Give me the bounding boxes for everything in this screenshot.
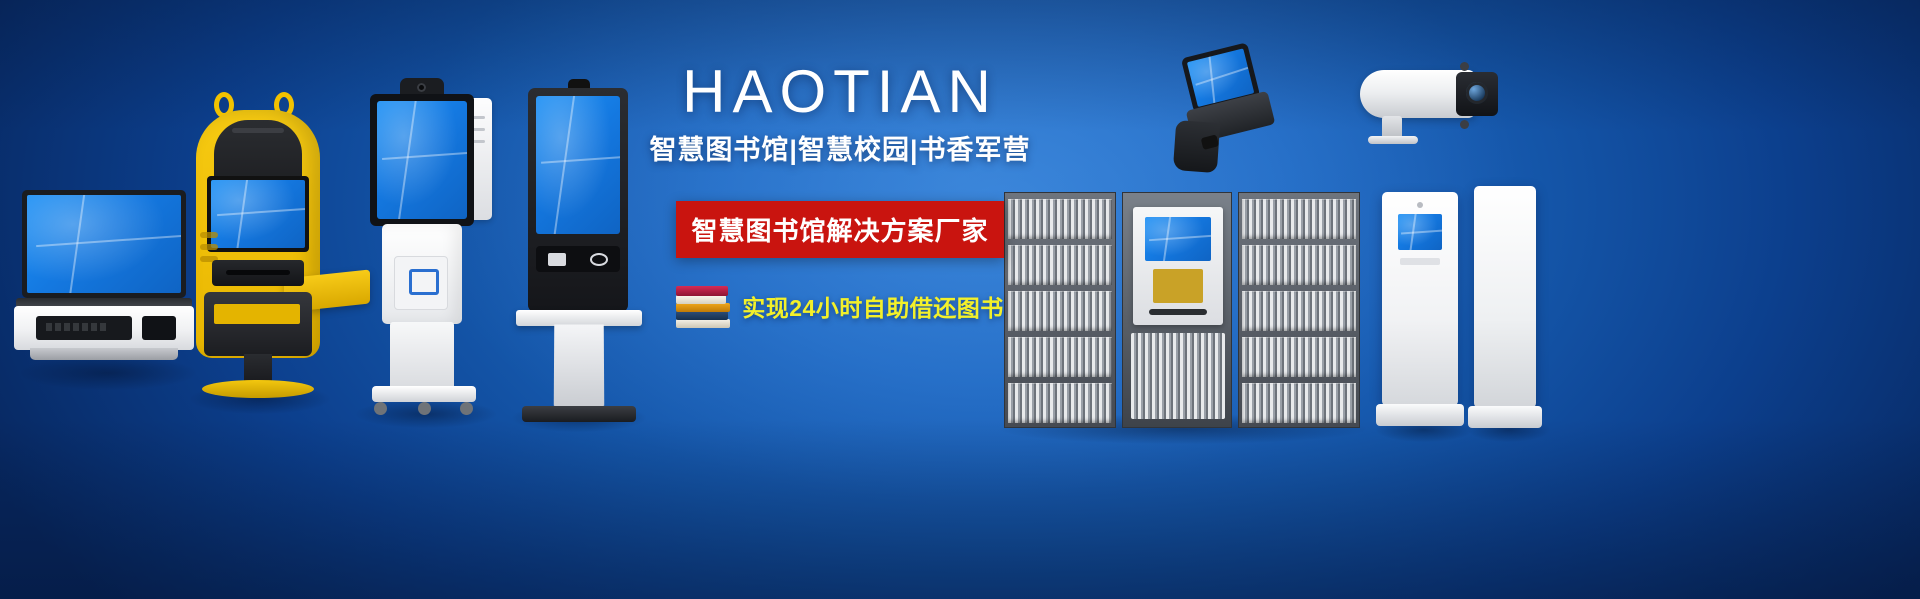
rfid-reader-pad-icon (394, 256, 448, 310)
book-layer-2 (676, 311, 728, 320)
red-highlight-banner: 智慧图书馆解决方案厂家 (676, 201, 1004, 258)
banner-text-block: HAOTIAN 智慧图书馆|智慧校园|书香军营 智慧图书馆解决方案厂家 实现24… (630, 62, 1050, 328)
barcode-scanner-icon (548, 253, 566, 266)
bee-vent-2 (200, 244, 218, 250)
bee-kiosk-book-slot (212, 260, 304, 286)
camera-lens (1456, 72, 1498, 116)
totem-label-strip (1400, 258, 1440, 265)
bee-kiosk-label-plate (214, 304, 300, 324)
screen-glow (1145, 217, 1211, 261)
locker-keypad (1153, 269, 1203, 303)
shelf-row (1008, 383, 1112, 423)
camera-ir-led-top (1460, 62, 1469, 71)
bee-kiosk-lower-cabinet (204, 292, 312, 356)
screen-glow (27, 195, 181, 293)
camera-mount-plate (1368, 136, 1418, 144)
screen-glow (377, 101, 467, 219)
kiosk-screen-housing (370, 94, 474, 226)
kiosk-foot-bar (372, 386, 476, 402)
locker-screen (1145, 217, 1211, 261)
book-stack-icon (676, 284, 732, 328)
self-service-laptop-station (14, 190, 194, 370)
shelf-row (1008, 337, 1112, 377)
shelf-row (1242, 291, 1356, 331)
terminal-base (522, 406, 636, 422)
caster-wheel-right (460, 402, 473, 415)
red-banner-text: 智慧图书馆解决方案厂家 (691, 211, 988, 248)
camera-ir-led-bottom (1460, 120, 1469, 129)
laptop-screen (27, 195, 181, 293)
security-camera (1360, 58, 1510, 144)
totem-camera-icon (1417, 202, 1423, 208)
kiosk-column (390, 322, 454, 390)
rfid-self-checkout-kiosk (360, 78, 490, 426)
terminal-screen-housing (528, 88, 628, 312)
locker-card-slot (1149, 309, 1207, 315)
book-layer-4 (676, 295, 726, 304)
terminal-column (554, 324, 605, 408)
shelf-row (1242, 383, 1356, 423)
terminal-touchscreen (536, 96, 620, 234)
automated-book-return-lockers (1004, 192, 1360, 428)
screen-glow (536, 96, 620, 234)
locker-cabinet-control (1122, 192, 1232, 428)
totem-screen (1398, 214, 1442, 250)
bee-vent-1 (200, 232, 218, 238)
locker-control-panel (1133, 207, 1223, 325)
laptop-card-reader (142, 316, 176, 340)
locker-cabinet-right (1238, 192, 1360, 428)
locker-lower-shelves (1131, 333, 1225, 419)
nfc-reader-icon (590, 253, 608, 266)
totem-body (1382, 192, 1458, 406)
brand-title: HAOTIAN (630, 62, 1050, 122)
shelf-row (1242, 245, 1356, 285)
caster-wheel-middle (418, 402, 431, 415)
terminal-scanner-row (536, 246, 620, 272)
bee-kiosk-brand-strip (232, 128, 284, 133)
book-layer-1 (676, 319, 730, 328)
digital-signage-totem-blank (1474, 186, 1536, 430)
screen-glow (1398, 214, 1442, 250)
bee-kiosk-screen (211, 180, 305, 248)
laptop-keyboard (36, 316, 132, 340)
rfid-handheld-reader (1147, 35, 1298, 182)
book-layer-5 (676, 286, 728, 296)
hero-banner: HAOTIAN 智慧图书馆|智慧校园|书香军营 智慧图书馆解决方案厂家 实现24… (0, 0, 1920, 599)
kiosk-touchscreen (377, 101, 467, 219)
totem-base (1376, 404, 1464, 426)
bee-kiosk-display-housing (207, 176, 309, 252)
laptop-lid (22, 190, 186, 298)
tagline-text: 实现24小时自助借还图书 (742, 289, 1004, 323)
digital-signage-totem (1382, 192, 1458, 430)
caster-wheel-left (374, 402, 387, 415)
shelf-row (1242, 199, 1356, 239)
face-recognition-borrowing-terminal (524, 88, 634, 428)
shelf-row (1242, 337, 1356, 377)
laptop-foot (30, 348, 178, 360)
tagline-row: 实现24小时自助借还图书 (630, 284, 1050, 328)
bee-kiosk-base-plate (202, 380, 314, 398)
brand-subtitle: 智慧图书馆|智慧校园|书香军营 (630, 128, 1050, 167)
totem-base (1468, 406, 1542, 428)
book-layer-3 (676, 303, 730, 312)
screen-glow (211, 180, 305, 248)
bee-shaped-book-return-kiosk (188, 92, 328, 398)
totem-body (1474, 186, 1536, 408)
